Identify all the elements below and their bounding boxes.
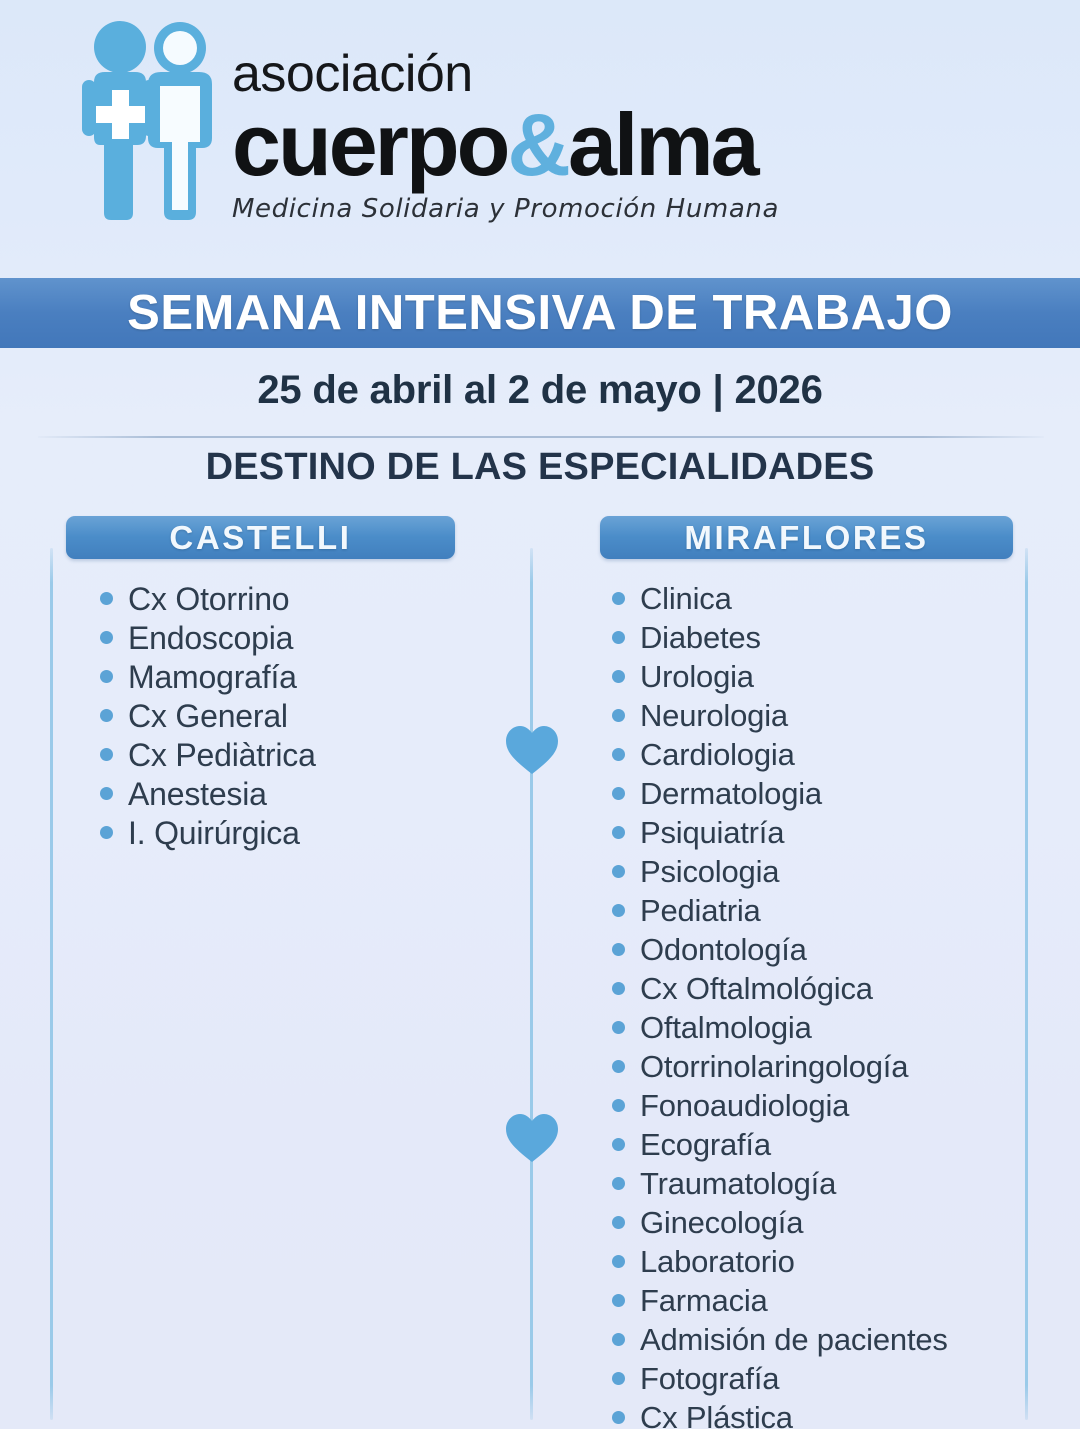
list-item: Farmacia [612,1281,1013,1320]
bullet-icon [612,1060,625,1073]
list-item: Endoscopia [100,618,455,657]
list-item: Cardiologia [612,735,1013,774]
bullet-icon [612,1021,625,1034]
bullet-icon [612,631,625,644]
list-item: Traumatología [612,1164,1013,1203]
list-item: Anestesia [100,774,455,813]
right-guide-line [1025,548,1028,1420]
column-miraflores: MIRAFLORES Clinica Diabetes Urologia Neu… [600,516,1013,1429]
specialty-label: Psiquiatría [640,817,784,848]
column-header-label: MIRAFLORES [684,519,928,557]
list-item: Urologia [612,657,1013,696]
specialty-label: Neurologia [640,700,788,731]
specialty-label: Cx General [128,700,288,732]
logo-header: asociación cuerpo&alma Medicina Solidari… [0,0,1080,278]
specialty-label: Pediatria [640,895,761,926]
list-item: Fonoaudiologia [612,1086,1013,1125]
bullet-icon [612,1294,625,1307]
bullet-icon [612,982,625,995]
list-item: Pediatria [612,891,1013,930]
bullet-icon [612,865,625,878]
logo-ampersand: & [507,95,568,194]
left-guide-line [50,548,53,1420]
logo-wordmark: asociación cuerpo&alma Medicina Solidari… [232,48,852,224]
bullet-icon [100,670,113,683]
bullet-icon [100,748,113,761]
bullet-icon [612,748,625,761]
logo-word-alma: alma [568,95,757,194]
bullet-icon [612,1411,625,1424]
bullet-icon [612,1333,625,1346]
bullet-icon [612,943,625,956]
list-item: Psiquiatría [612,813,1013,852]
specialty-label: Diabetes [640,622,761,653]
bullet-icon [100,631,113,644]
specialty-label: Ecografía [640,1129,771,1160]
specialty-label: Dermatologia [640,778,822,809]
heart-icon [504,724,560,776]
two-people-with-medical-cross-icon [76,14,228,222]
bullet-icon [612,1177,625,1190]
center-guide-line [530,548,533,1420]
horizontal-divider [38,436,1044,438]
bullet-icon [100,709,113,722]
list-item: Ecografía [612,1125,1013,1164]
column-header-castelli: CASTELLI [66,516,455,559]
list-item: Cx Otorrino [100,579,455,618]
event-banner: SEMANA INTENSIVA DE TRABAJO [0,278,1080,348]
list-item: Laboratorio [612,1242,1013,1281]
bullet-icon [612,904,625,917]
logo-line-cuerpoalma: cuerpo&alma [232,102,852,188]
list-item: Odontología [612,930,1013,969]
specialty-label: Fonoaudiologia [640,1090,849,1121]
bullet-icon [100,826,113,839]
list-item: Diabetes [612,618,1013,657]
specialty-label: Fotografía [640,1363,779,1394]
bullet-icon [612,826,625,839]
list-item: Neurologia [612,696,1013,735]
logo-tagline: Medicina Solidaria y Promoción Humana [232,194,852,224]
list-item: Cx Plástica [612,1398,1013,1429]
list-item: Mamografía [100,657,455,696]
specialty-label: Cx Oftalmológica [640,973,873,1004]
specialty-label: Mamografía [128,661,297,693]
column-header-label: CASTELLI [169,519,351,557]
bullet-icon [612,1372,625,1385]
bullet-icon [612,1216,625,1229]
bullet-icon [612,1099,625,1112]
event-date: 25 de abril al 2 de mayo | 2026 [0,368,1080,413]
logo-line-asociacion: asociación [232,48,852,100]
bullet-icon [612,1138,625,1151]
list-item: Admisión de pacientes [612,1320,1013,1359]
bullet-icon [612,709,625,722]
specialty-list-castelli: Cx Otorrino Endoscopia Mamografía Cx Gen… [66,579,455,852]
column-header-miraflores: MIRAFLORES [600,516,1013,559]
bullet-icon [612,787,625,800]
list-item: Psicologia [612,852,1013,891]
banner-title: SEMANA INTENSIVA DE TRABAJO [127,285,953,341]
bullet-icon [100,787,113,800]
list-item: Oftalmologia [612,1008,1013,1047]
page-subtitle: DESTINO DE LAS ESPECIALIDADES [0,446,1080,489]
specialty-label: Cx Plástica [640,1402,793,1429]
list-item: Dermatologia [612,774,1013,813]
specialty-label: Endoscopia [128,622,293,654]
bullet-icon [612,1255,625,1268]
specialty-label: Odontología [640,934,807,965]
specialty-label: Oftalmologia [640,1012,812,1043]
list-item: Clinica [612,579,1013,618]
list-item: Otorrinolaringología [612,1047,1013,1086]
list-item: Cx General [100,696,455,735]
bullet-icon [612,670,625,683]
list-item: I. Quirúrgica [100,813,455,852]
bullet-icon [100,592,113,605]
column-castelli: CASTELLI Cx Otorrino Endoscopia Mamograf… [66,516,455,852]
specialty-label: Traumatología [640,1168,836,1199]
list-item: Cx Oftalmológica [612,969,1013,1008]
specialty-label: Ginecología [640,1207,803,1238]
specialty-list-miraflores: Clinica Diabetes Urologia Neurologia Car… [600,579,1013,1429]
list-item: Fotografía [612,1359,1013,1398]
specialty-label: Cx Pediàtrica [128,739,316,771]
specialty-label: Psicologia [640,856,779,887]
list-item: Ginecología [612,1203,1013,1242]
specialty-label: Cx Otorrino [128,583,289,615]
specialty-label: Otorrinolaringología [640,1051,908,1082]
specialty-label: Cardiologia [640,739,795,770]
specialty-label: Admisión de pacientes [640,1324,948,1355]
list-item: Cx Pediàtrica [100,735,455,774]
specialty-label: Urologia [640,661,754,692]
heart-icon [504,1112,560,1164]
logo-word-cuerpo: cuerpo [232,95,507,194]
specialty-label: Farmacia [640,1285,768,1316]
specialty-label: Anestesia [128,778,267,810]
specialty-label: Laboratorio [640,1246,795,1277]
specialty-label: I. Quirúrgica [128,817,300,849]
specialty-label: Clinica [640,583,732,614]
bullet-icon [612,592,625,605]
